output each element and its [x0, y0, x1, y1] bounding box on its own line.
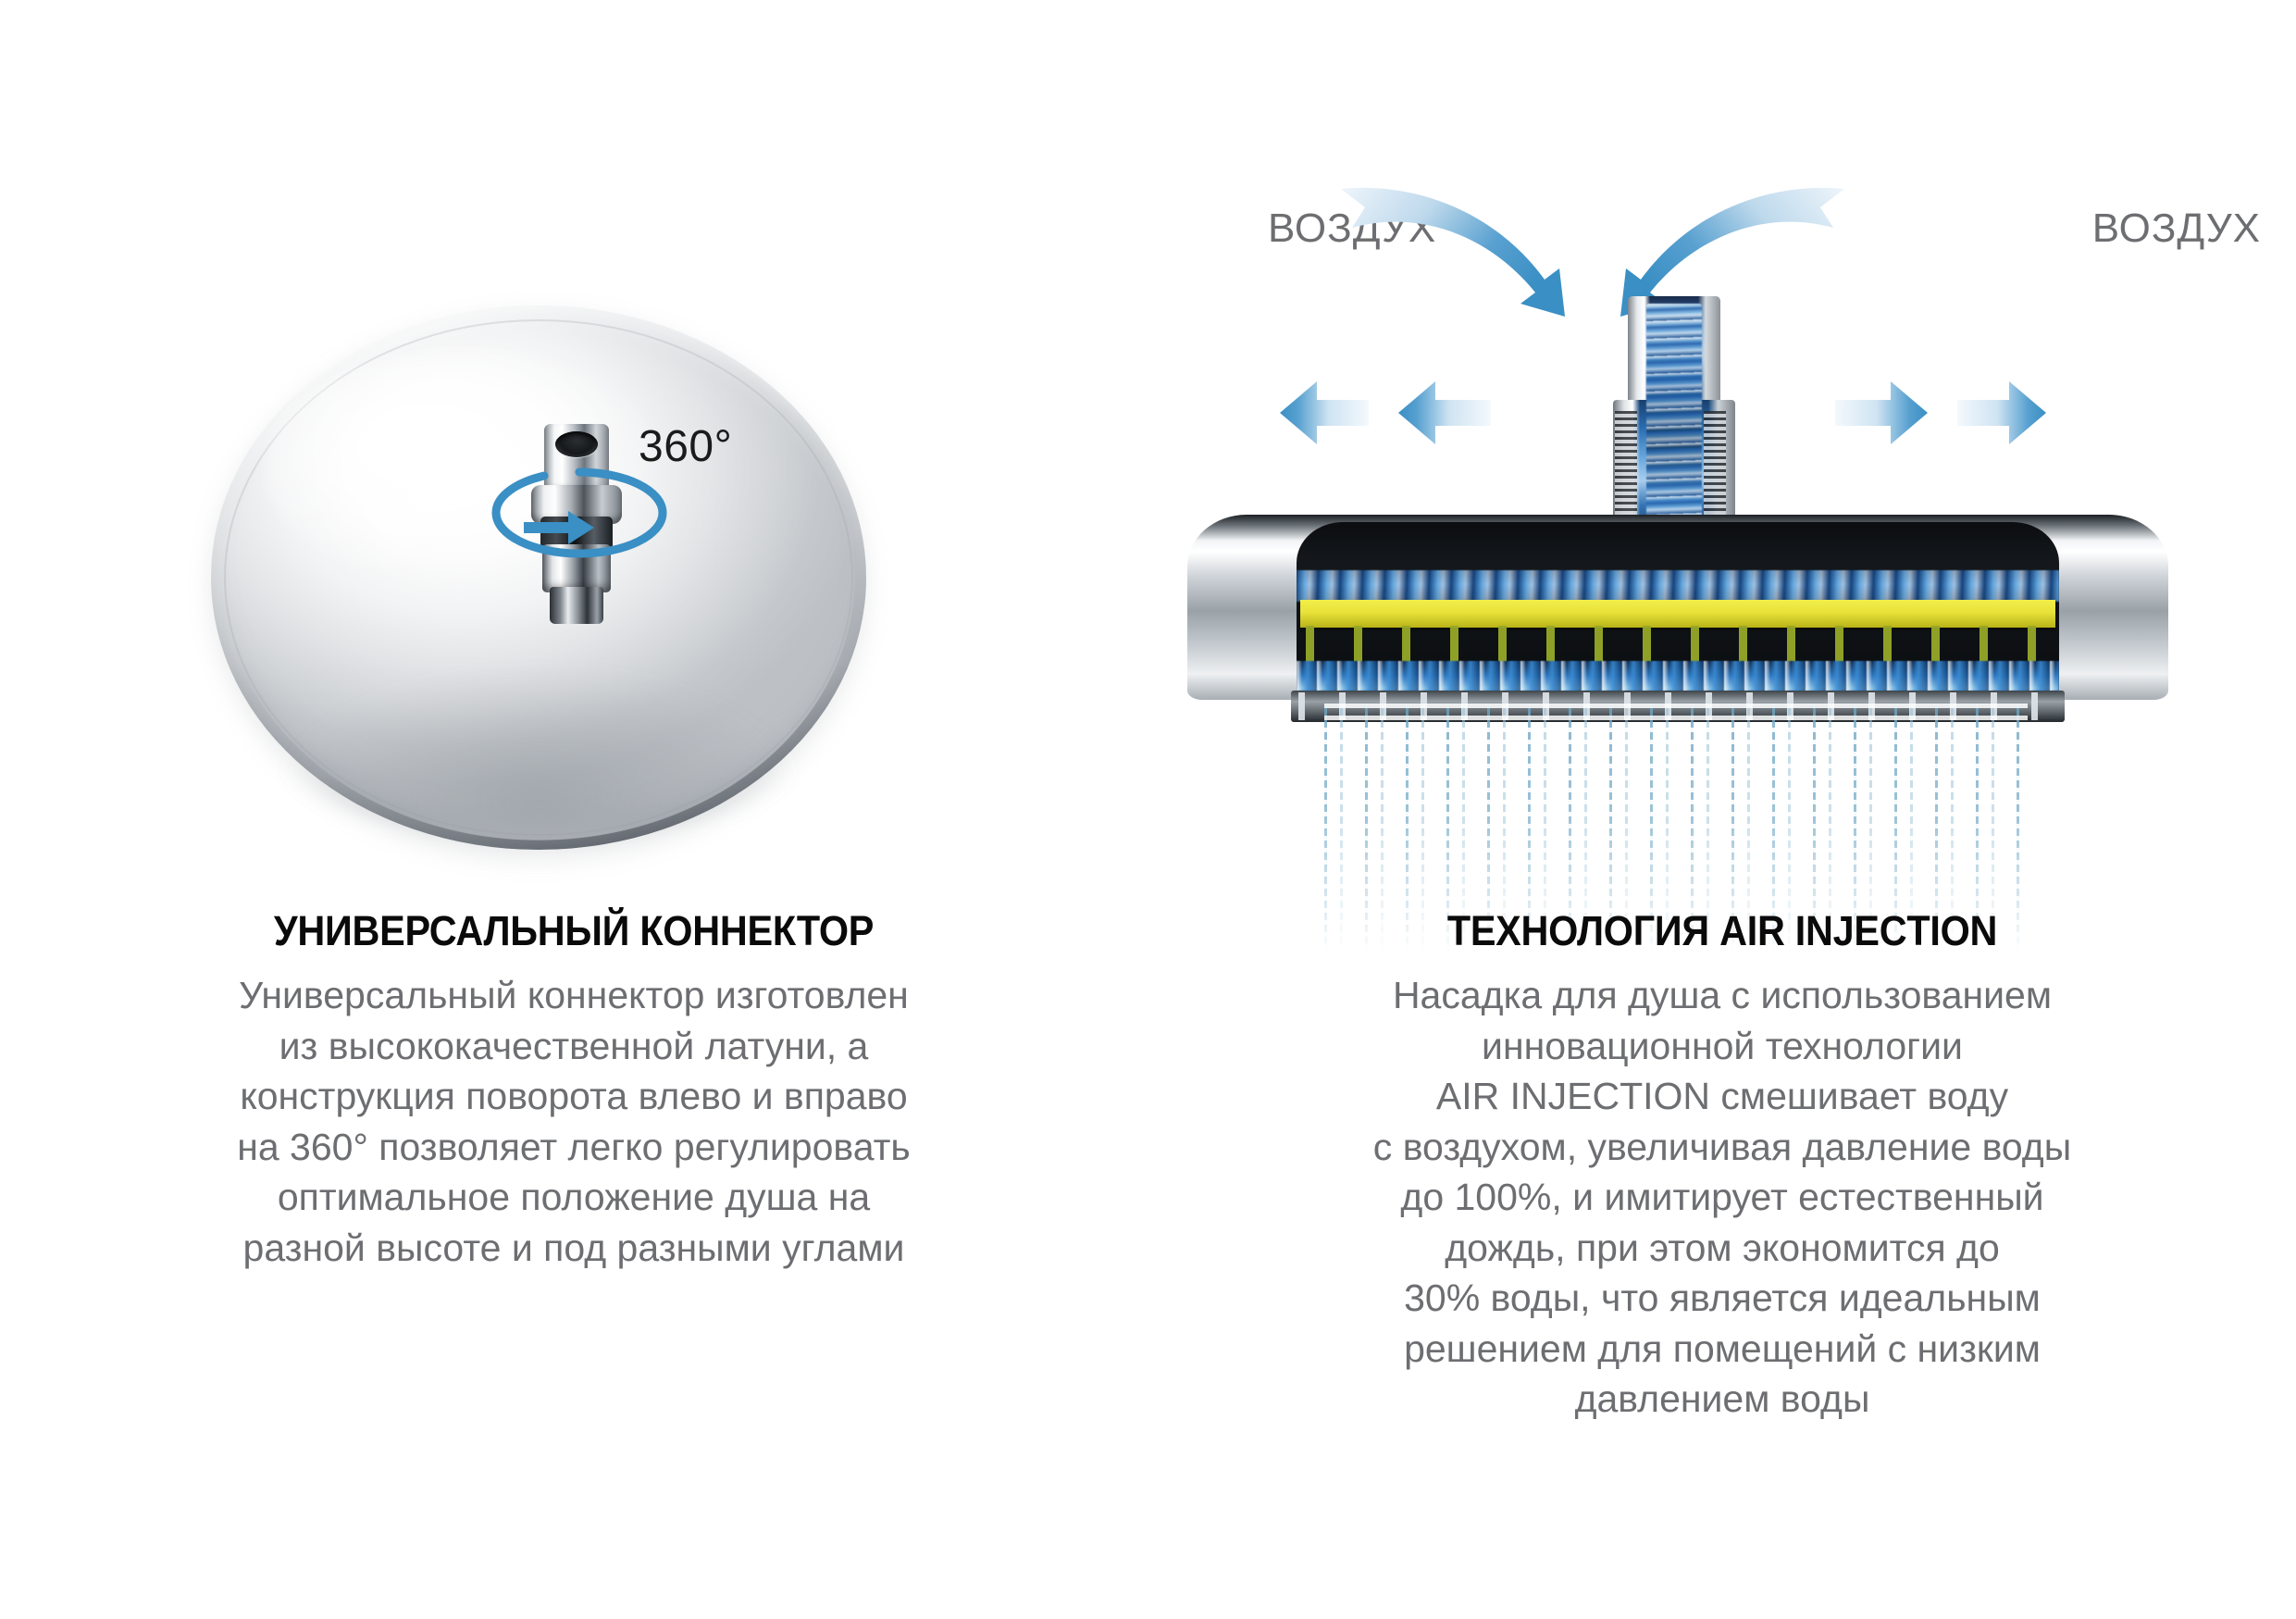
- caption-air-injection: ТЕХНОЛОГИЯ AIR INJECTION Насадка для душ…: [1148, 907, 2296, 1425]
- description-universal-connector: Универсальный коннектор изготовлен из вы…: [167, 970, 981, 1273]
- figure-universal-connector: 360°: [0, 0, 1148, 889]
- connector-base: [550, 587, 603, 624]
- infographic-page: 360° УНИВЕРСАЛЬНЫЙ КОННЕКТОР Универсальн…: [0, 0, 2296, 1619]
- air-intake-arrows-icon: [1334, 176, 1852, 342]
- diffuser-plate: [1300, 600, 2055, 628]
- shower-head-disc-icon: [211, 305, 866, 850]
- page-title-universal-connector: УНИВЕРСАЛЬНЫЙ КОННЕКТОР: [46, 907, 1102, 955]
- figure-air-injection: ВОЗДУХ ВОЗДУХ: [1148, 0, 2296, 889]
- nozzle-threads-right: [1704, 411, 1726, 531]
- disc-shadow: [277, 670, 800, 833]
- inlet-nozzle: [1604, 296, 1744, 546]
- water-stream-inside-nozzle: [1646, 304, 1702, 533]
- mixing-chamber-water: [1297, 570, 2059, 602]
- air-label-right: ВОЗДУХ: [2092, 205, 2261, 252]
- shower-head-cutaway-icon: ВОЗДУХ ВОЗДУХ: [1148, 0, 2296, 889]
- badge-360-degrees: 360°: [639, 421, 732, 472]
- shower-head-body: [1187, 515, 2168, 700]
- air-flow-arrows-left-icon: [1280, 368, 1502, 457]
- caption-universal-connector: УНИВЕРСАЛЬНЫЙ КОННЕКТОР Универсальный ко…: [0, 907, 1148, 1273]
- air-flow-arrows-right-icon: [1824, 368, 2046, 457]
- rotation-ring-icon: [489, 465, 670, 561]
- panel-air-injection: ВОЗДУХ ВОЗДУХ: [1148, 0, 2296, 1619]
- cutaway-interior: [1297, 522, 2059, 700]
- description-air-injection: Насадка для душа с использованием иннова…: [1287, 970, 2157, 1425]
- connector-bore: [555, 431, 598, 457]
- panel-universal-connector: 360° УНИВЕРСАЛЬНЫЙ КОННЕКТОР Универсальн…: [0, 0, 1148, 1619]
- nozzle-threads-left: [1615, 411, 1637, 531]
- page-title-air-injection: ТЕХНОЛОГИЯ AIR INJECTION: [1195, 907, 2251, 955]
